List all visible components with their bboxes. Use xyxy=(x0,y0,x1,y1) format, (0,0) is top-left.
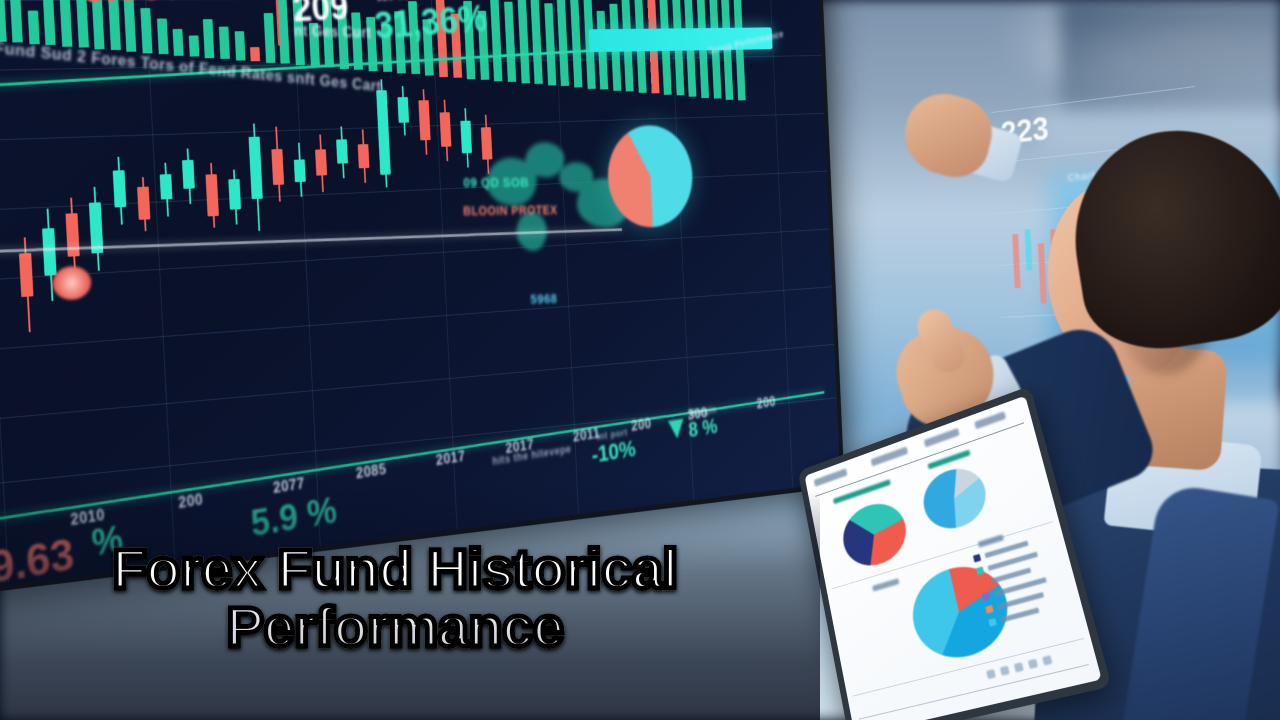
toolbar-icon-1[interactable] xyxy=(986,669,996,679)
candle-body xyxy=(182,160,195,189)
candle-body xyxy=(294,159,306,182)
legend-swatch-1 xyxy=(973,554,981,563)
volume-bar-34[interactable] xyxy=(490,0,503,81)
page-title: Forex Fund Historical Performance xyxy=(0,540,790,656)
gridline-v-6 xyxy=(768,0,793,488)
volume-bar-36[interactable] xyxy=(517,0,530,83)
title-line-2: Performance xyxy=(0,598,790,656)
candle-body xyxy=(228,179,241,210)
candle-body xyxy=(19,253,34,297)
x-axis-label-3: 2085 xyxy=(355,462,387,483)
volume-bar-37[interactable] xyxy=(530,0,543,84)
tablet-tab-dashboard[interactable] xyxy=(814,468,848,486)
candle-body xyxy=(358,144,370,168)
tablet-legend-title xyxy=(978,534,1004,547)
volume-bar-3[interactable] xyxy=(27,10,39,44)
tablet-chart-right-title xyxy=(928,450,971,470)
candle-body xyxy=(65,213,79,257)
tablet-tab-settings[interactable] xyxy=(974,411,1006,429)
candle-body xyxy=(160,174,173,199)
candle-body xyxy=(271,149,284,185)
candle-body xyxy=(137,187,150,220)
map-label-primary: 09 QD SOB xyxy=(463,175,529,190)
candle-body xyxy=(249,137,263,200)
volume-bar-12[interactable] xyxy=(173,29,184,56)
candle-body xyxy=(206,174,219,216)
candle-body xyxy=(336,139,348,163)
toolbar-icon-2[interactable] xyxy=(1000,666,1010,676)
title-line-1: Forex Fund Historical xyxy=(0,540,790,598)
tablet-tab-reports[interactable] xyxy=(924,428,960,447)
candle-body xyxy=(481,127,493,160)
tablet-pie-right[interactable] xyxy=(918,461,992,537)
candle-body xyxy=(315,149,327,175)
volume-bar-17[interactable] xyxy=(250,47,260,62)
kpi-count-value: 209 xyxy=(291,0,350,31)
tablet-pie-left[interactable] xyxy=(838,495,912,573)
volume-bar-35[interactable] xyxy=(504,2,516,82)
volume-bar-16[interactable] xyxy=(234,31,245,60)
candle-body xyxy=(440,112,452,147)
toolbar-icon-3[interactable] xyxy=(1014,662,1024,672)
volume-bar-2[interactable] xyxy=(10,0,23,43)
toolbar-icon-5[interactable] xyxy=(1042,655,1052,665)
volume-bar-11[interactable] xyxy=(157,18,169,54)
tablet-tab-portfolio[interactable] xyxy=(871,447,908,467)
x-axis-label-7: 200 xyxy=(631,416,652,435)
x-axis-label-9: 200 xyxy=(756,395,776,413)
candle-body xyxy=(397,97,409,123)
tablet-legend xyxy=(970,519,1054,545)
toolbar-icon-4[interactable] xyxy=(1028,659,1038,669)
screenshot-root: Flow Yea Fund Sud 2 Fores Tors of Fend R… xyxy=(0,0,1280,720)
map-label-tertiary: 5968 xyxy=(530,291,557,307)
tablet-pie-large[interactable] xyxy=(905,555,1017,667)
tablet-chart-large-title xyxy=(872,578,899,591)
map-label-secondary: BLOOIN PROTEX xyxy=(463,203,558,218)
volume-bar-14[interactable] xyxy=(203,19,215,57)
x-axis-label-4: 2017 xyxy=(435,449,466,470)
candle-body xyxy=(376,90,391,175)
candle-body xyxy=(418,100,430,140)
volume-bar-13[interactable] xyxy=(189,36,200,57)
legend-label-3 xyxy=(991,567,1032,583)
down-arrow-icon xyxy=(668,419,685,440)
price-marker-dot[interactable] xyxy=(52,265,92,301)
kpi-gain-value: 31,36% xyxy=(373,0,489,48)
candle-body xyxy=(113,170,127,207)
volume-bar-40[interactable] xyxy=(570,0,583,88)
candle-body xyxy=(460,121,472,154)
volume-bar-15[interactable] xyxy=(219,27,230,59)
candle-body xyxy=(42,228,57,276)
